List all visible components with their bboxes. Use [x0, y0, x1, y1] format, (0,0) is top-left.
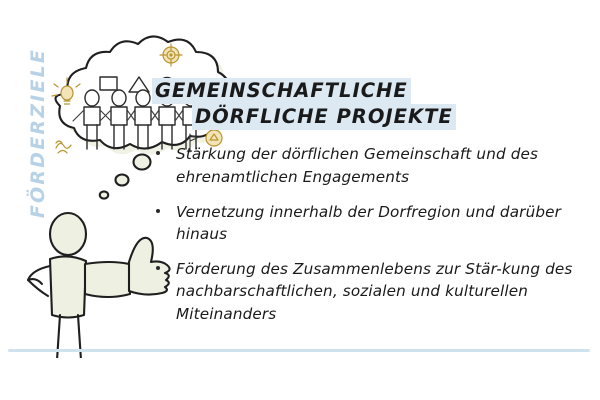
- thought-bubble-medium: [116, 175, 129, 186]
- list-item: Stärkung der dörflichen Gemeinschaft und…: [152, 143, 588, 187]
- thought-bubble-large: [134, 155, 151, 170]
- ground-line: [8, 349, 590, 352]
- goals-list: Stärkung der dörflichen Gemeinschaft und…: [152, 143, 588, 324]
- scribble-icon: [56, 141, 71, 153]
- thought-bubble-trail: [100, 155, 151, 199]
- list-item-text: Förderung des Zusammenlebens zur Stär-ku…: [176, 260, 572, 322]
- bullet-dot-icon: [156, 266, 160, 270]
- square-shape: [100, 77, 117, 90]
- thumbs-up-stick-figure: [28, 213, 170, 358]
- page-title: GEMEINSCHAFTLICHE DÖRFLICHE PROJEKTE: [152, 78, 588, 129]
- title-line-1: GEMEINSCHAFTLICHE: [152, 78, 588, 104]
- list-item: Vernetzung innerhalb der Dorfregion und …: [152, 201, 588, 245]
- bullet-dot-icon: [156, 209, 160, 213]
- thought-bubble-small: [100, 191, 108, 198]
- slide-canvas: FÖRDERZIELE .ink { fill:none; stroke:#1f…: [0, 0, 600, 400]
- list-item-text: Vernetzung innerhalb der Dorfregion und …: [176, 203, 561, 243]
- bullet-dot-icon: [156, 151, 160, 155]
- list-item-text: Stärkung der dörflichen Gemeinschaft und…: [176, 145, 538, 185]
- title-line-2: DÖRFLICHE PROJEKTE: [152, 104, 588, 130]
- content-block: GEMEINSCHAFTLICHE DÖRFLICHE PROJEKTE Stä…: [152, 78, 588, 338]
- list-item: Förderung des Zusammenlebens zur Stär-ku…: [152, 258, 588, 325]
